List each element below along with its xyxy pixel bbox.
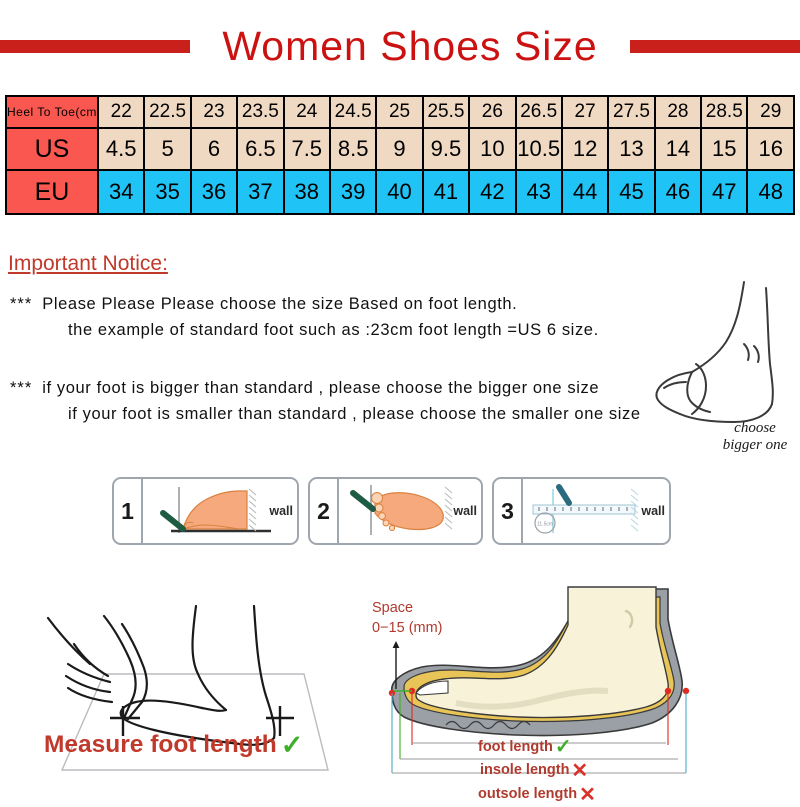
cell-cm-3: 23.5 [237, 96, 283, 128]
cell-eu-11: 45 [608, 170, 654, 214]
notice-bullet-stars-2: *** [10, 379, 32, 397]
cell-eu-8: 42 [469, 170, 515, 214]
cell-cm-1: 22.5 [144, 96, 190, 128]
notice-paragraph-2: ***if your foot is bigger than standard … [10, 376, 670, 427]
step-panel-1: 1 wall [112, 477, 299, 545]
insole-length-x-icon: ✕ [571, 760, 588, 782]
cell-us-6: 9 [376, 128, 422, 170]
foot-caption-line-2: bigger one [723, 437, 788, 453]
table-row-eu: EU 34 35 36 37 38 39 40 41 42 43 44 45 4… [6, 170, 794, 214]
cell-us-2: 6 [191, 128, 237, 170]
shoe-cross-section-diagram: Space 0−15 (mm) foot length✓ insole leng… [360, 573, 796, 795]
cell-eu-7: 41 [423, 170, 469, 214]
cell-us-14: 16 [747, 128, 794, 170]
notice-line-4: if your foot is smaller than standard , … [10, 402, 670, 428]
important-notice-heading: Important Notice: [8, 252, 168, 276]
size-conversion-table: Heel To Toe(cm) 22 22.5 23 23.5 24 24.5 … [5, 95, 795, 215]
wall-label-1: wall [269, 504, 293, 518]
measure-check-icon: ✓ [281, 730, 304, 761]
cell-eu-10: 44 [562, 170, 608, 214]
title-bar-left [0, 40, 190, 53]
cell-cm-2: 23 [191, 96, 237, 128]
notice-bullet-stars: *** [10, 295, 32, 313]
cell-us-1: 5 [144, 128, 190, 170]
cell-us-5: 8.5 [330, 128, 376, 170]
cell-eu-13: 47 [701, 170, 747, 214]
legend-insole-length: insole length✕ [478, 759, 596, 783]
measure-steps: 1 wall 2 [112, 477, 660, 545]
measure-foot-illustration: Measure foot length✓ [18, 578, 363, 793]
cell-cm-13: 28.5 [701, 96, 747, 128]
step-panel-2: 2 wall [308, 477, 483, 545]
page-title-row: Women Shoes Size [0, 18, 800, 74]
table-row-us: US 4.5 5 6 6.5 7.5 8.5 9 9.5 10 10.5 12 … [6, 128, 794, 170]
step-art-3: 11.5cm wall [523, 479, 669, 543]
measure-caption-text: Measure foot length [44, 731, 277, 758]
cell-us-11: 13 [608, 128, 654, 170]
foot-caption: choose bigger one [700, 420, 800, 455]
cell-cm-6: 25 [376, 96, 422, 128]
cell-cm-7: 25.5 [423, 96, 469, 128]
step-panel-3: 3 11.5cm [492, 477, 671, 545]
step-number-1: 1 [114, 479, 143, 543]
cell-eu-4: 38 [284, 170, 330, 214]
cell-us-9: 10.5 [516, 128, 562, 170]
space-label: Space 0−15 (mm) [372, 599, 443, 638]
cell-us-7: 9.5 [423, 128, 469, 170]
cell-us-8: 10 [469, 128, 515, 170]
cell-us-3: 6.5 [237, 128, 283, 170]
cell-eu-6: 40 [376, 170, 422, 214]
cell-cm-8: 26 [469, 96, 515, 128]
ruler-value: 11.5cm [537, 522, 553, 528]
cell-cm-4: 24 [284, 96, 330, 128]
wall-label-3: wall [641, 504, 665, 518]
space-label-line-1: Space [372, 600, 413, 616]
legend-foot-length-text: foot length [478, 739, 553, 755]
cell-eu-5: 39 [330, 170, 376, 214]
page-title: Women Shoes Size [190, 26, 630, 67]
cell-eu-14: 48 [747, 170, 794, 214]
notice-text-2: the example of standard foot such as :23… [68, 321, 599, 339]
notice-line-3: ***if your foot is bigger than standard … [10, 376, 670, 402]
cell-cm-9: 26.5 [516, 96, 562, 128]
cell-cm-12: 28 [655, 96, 701, 128]
notice-line-2: the example of standard foot such as :23… [10, 318, 670, 344]
row-label-eu: EU [6, 170, 98, 214]
cell-cm-10: 27 [562, 96, 608, 128]
foot-side-illustration: choose bigger one [648, 268, 798, 463]
legend-outsole-length: outsole length✕ [478, 783, 596, 807]
measure-caption: Measure foot length✓ [44, 730, 303, 761]
cell-cm-0: 22 [98, 96, 144, 128]
cell-us-10: 12 [562, 128, 608, 170]
step-number-3: 3 [494, 479, 523, 543]
notice-line-1: ***Please Please Please choose the size … [10, 292, 670, 318]
cell-us-4: 7.5 [284, 128, 330, 170]
cell-cm-14: 29 [747, 96, 794, 128]
legend-foot-length: foot length✓ [478, 735, 596, 759]
cell-eu-0: 34 [98, 170, 144, 214]
table-row-heel-to-toe: Heel To Toe(cm) 22 22.5 23 23.5 24 24.5 … [6, 96, 794, 128]
outsole-length-x-icon: ✕ [579, 784, 596, 806]
cell-eu-2: 36 [191, 170, 237, 214]
cell-eu-9: 43 [516, 170, 562, 214]
foot-caption-line-1: choose [734, 420, 776, 436]
space-label-line-2: 0−15 (mm) [372, 620, 443, 636]
notice-paragraph-1: ***Please Please Please choose the size … [10, 292, 670, 343]
cell-eu-3: 37 [237, 170, 283, 214]
legend-insole-length-text: insole length [480, 762, 569, 778]
step-number-2: 2 [310, 479, 339, 543]
cell-cm-5: 24.5 [330, 96, 376, 128]
cell-eu-12: 46 [655, 170, 701, 214]
cell-cm-11: 27.5 [608, 96, 654, 128]
step-art-2: wall [339, 479, 481, 543]
notice-text-1: Please Please Please choose the size Bas… [42, 295, 517, 313]
cell-eu-1: 35 [144, 170, 190, 214]
foot-length-check-icon: ✓ [555, 736, 572, 758]
notice-text-4: if your foot is smaller than standard , … [68, 405, 641, 423]
row-label-us: US [6, 128, 98, 170]
cell-us-12: 14 [655, 128, 701, 170]
cell-us-13: 15 [701, 128, 747, 170]
notice-text-3: if your foot is bigger than standard , p… [42, 379, 599, 397]
wall-label-2: wall [453, 504, 477, 518]
row-label-heel-to-toe: Heel To Toe(cm) [6, 96, 98, 128]
step-art-1: wall [143, 479, 297, 543]
title-bar-right [630, 40, 800, 53]
cell-us-0: 4.5 [98, 128, 144, 170]
length-legend: foot length✓ insole length✕ outsole leng… [478, 735, 596, 807]
